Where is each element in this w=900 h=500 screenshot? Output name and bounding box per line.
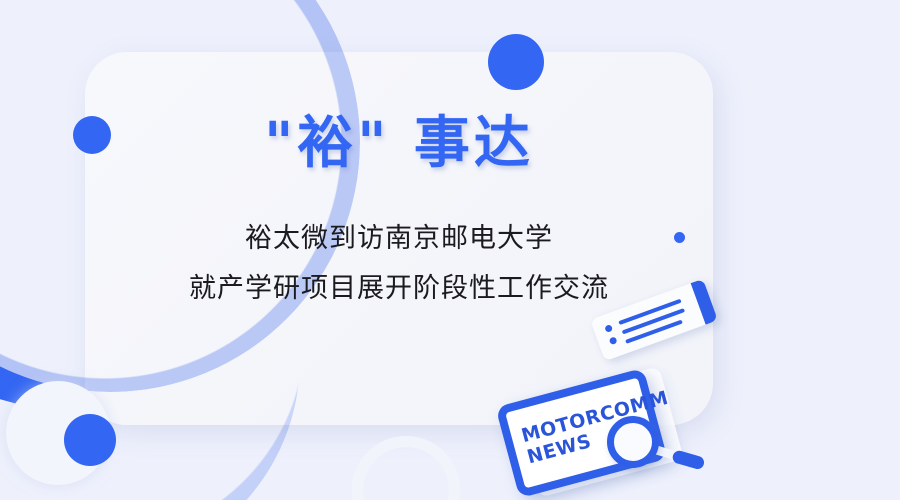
- banner-canvas: "裕" 事达 裕太微到访南京邮电大学 就产学研项目展开阶段性工作交流 MOTOR…: [0, 0, 900, 500]
- magnifier-lens: [607, 416, 659, 468]
- subtitle-line-2: 就产学研项目展开阶段性工作交流: [85, 266, 713, 305]
- subtitle-line-1: 裕太微到访南京邮电大学: [85, 216, 713, 255]
- magnifier-icon: [607, 416, 703, 476]
- document-bullet-dot: [604, 324, 613, 333]
- document-bullet-dot: [609, 336, 618, 345]
- decorative-dot-bottom: [64, 414, 116, 466]
- magnifier-handle: [671, 449, 705, 470]
- decorative-dot-top: [488, 34, 544, 90]
- page-title: "裕" 事达: [85, 98, 713, 179]
